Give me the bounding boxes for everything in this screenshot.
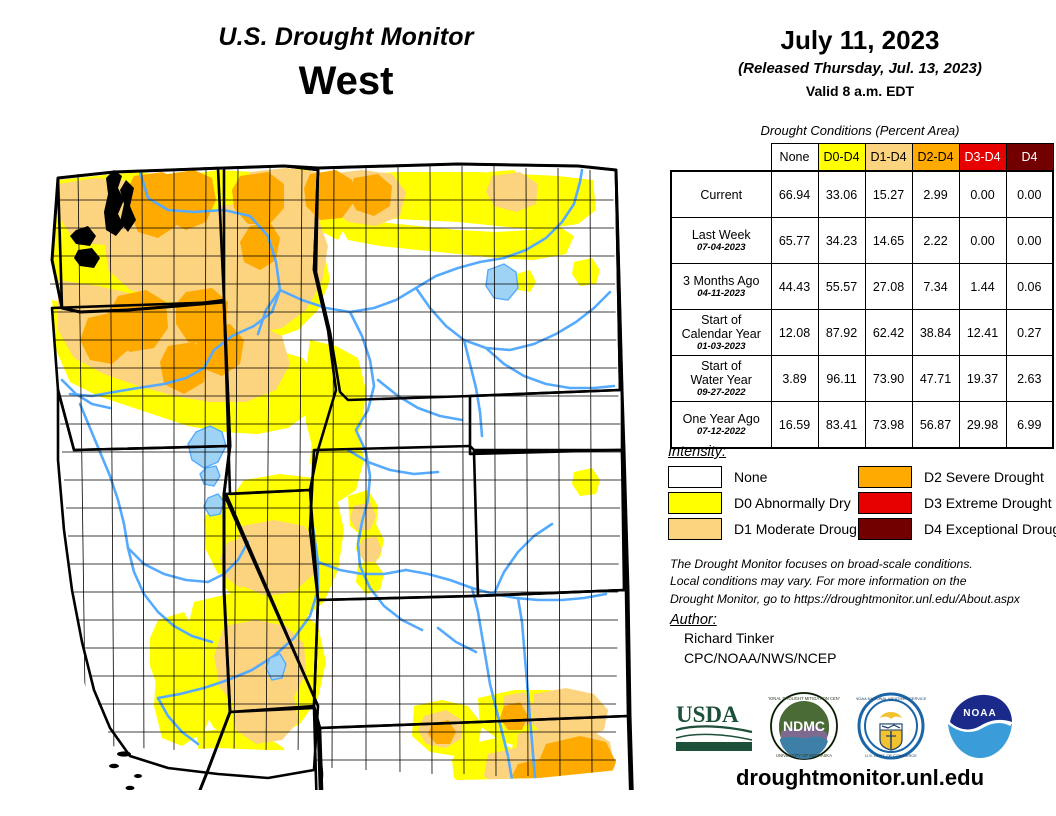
- row-label-date: 04-11-2023: [672, 289, 771, 300]
- table-corner-cell: [671, 144, 771, 172]
- cell-d0d4: 87.92: [818, 310, 865, 356]
- title-main: U.S. Drought Monitor: [96, 24, 596, 52]
- cell-none: 12.08: [771, 310, 818, 356]
- cell-d4: 0.06: [1006, 264, 1053, 310]
- note-line-1: The Drought Monitor focuses on broad-sca…: [670, 556, 1054, 573]
- svg-text:NDMC: NDMC: [783, 718, 825, 734]
- row-label-current: Current: [671, 171, 771, 218]
- cell-d2d4: 7.34: [912, 264, 959, 310]
- cell-d0d4: 96.11: [818, 356, 865, 402]
- svg-text:NOAA: NOAA: [963, 708, 996, 719]
- intensity-legend: Intensity: None D0 Abnormally Dry D1 Mod…: [668, 444, 1056, 544]
- row-label-one-year-ago: One Year Ago 07-12-2022: [671, 402, 771, 449]
- cell-d1d4: 62.42: [865, 310, 912, 356]
- cell-d2d4: 47.71: [912, 356, 959, 402]
- report-header: July 11, 2023 (Released Thursday, Jul. 1…: [664, 26, 1056, 100]
- cell-d1d4: 27.08: [865, 264, 912, 310]
- legend-item-d4: D4 Exceptional Drought: [858, 518, 1056, 540]
- table-caption: Drought Conditions (Percent Area): [664, 123, 1056, 138]
- cell-d4: 6.99: [1006, 402, 1053, 449]
- table-row: Start of Calendar Year 01-03-2023 12.08 …: [671, 310, 1053, 356]
- cell-none: 44.43: [771, 264, 818, 310]
- drought-map[interactable]: [18, 150, 658, 790]
- legend-label-d3: D3 Extreme Drought: [924, 495, 1052, 511]
- table-body: Current 66.94 33.06 15.27 2.99 0.00 0.00…: [671, 171, 1053, 448]
- cell-d1d4: 15.27: [865, 171, 912, 218]
- cell-d3d4: 19.37: [959, 356, 1006, 402]
- legend-item-d1: D1 Moderate Drought: [668, 518, 869, 540]
- drought-conditions-table: None D0-D4 D1-D4 D2-D4 D3-D4 D4 Current …: [670, 143, 1054, 449]
- cell-d2d4: 56.87: [912, 402, 959, 449]
- row-label-date: 07-12-2022: [672, 427, 771, 438]
- svg-text:NATIONAL DROUGHT MITIGATION CE: NATIONAL DROUGHT MITIGATION CENTER: [768, 696, 840, 701]
- author-title: Author:: [670, 612, 1054, 628]
- cell-none: 66.94: [771, 171, 818, 218]
- legend-item-d0: D0 Abnormally Dry: [668, 492, 851, 514]
- svg-text:U.S. DEPT. OF COMMERCE: U.S. DEPT. OF COMMERCE: [865, 753, 917, 758]
- cell-d0d4: 83.41: [818, 402, 865, 449]
- ndmc-logo: NDMC NATIONAL DROUGHT MITIGATION CENTER …: [768, 692, 840, 760]
- cell-d3d4: 0.00: [959, 171, 1006, 218]
- noaa-nws-seal: NOAA NATIONAL WEATHER SERVICE U.S. DEPT.…: [856, 692, 926, 760]
- row-label-text: Last Week: [692, 228, 751, 242]
- legend-swatch-none: [668, 466, 722, 488]
- column-header-none: None: [771, 144, 818, 172]
- legend-swatch-d4: [858, 518, 912, 540]
- legend-title: Intensity:: [668, 444, 1056, 460]
- author-name: Richard Tinker: [684, 628, 1054, 648]
- legend-item-d3: D3 Extreme Drought: [858, 492, 1052, 514]
- svg-text:USDA: USDA: [676, 702, 739, 727]
- cell-d3d4: 0.00: [959, 218, 1006, 264]
- cell-d0d4: 55.57: [818, 264, 865, 310]
- cell-d1d4: 73.90: [865, 356, 912, 402]
- legend-label-d0: D0 Abnormally Dry: [734, 495, 851, 511]
- row-label-last-week: Last Week 07-04-2023: [671, 218, 771, 264]
- cell-d4: 2.63: [1006, 356, 1053, 402]
- cell-none: 16.59: [771, 402, 818, 449]
- column-header-d1d4: D1-D4: [865, 144, 912, 172]
- row-label-date: 07-04-2023: [672, 243, 771, 254]
- table-row: Current 66.94 33.06 15.27 2.99 0.00 0.00: [671, 171, 1053, 218]
- table-row: One Year Ago 07-12-2022 16.59 83.41 73.9…: [671, 402, 1053, 449]
- legend-swatch-d2: [858, 466, 912, 488]
- legend-item-d2: D2 Severe Drought: [858, 466, 1044, 488]
- website-url[interactable]: droughtmonitor.unl.edu: [664, 765, 1056, 791]
- logo-row: USDA NDMC NATIONAL DROUGHT MITIGATION CE…: [664, 690, 1056, 760]
- cell-d0d4: 33.06: [818, 171, 865, 218]
- note-line-2: Local conditions may vary. For more info…: [670, 573, 1054, 590]
- cell-d2d4: 38.84: [912, 310, 959, 356]
- column-header-d0d4: D0-D4: [818, 144, 865, 172]
- row-label-3-months-ago: 3 Months Ago 04-11-2023: [671, 264, 771, 310]
- cell-d1d4: 14.65: [865, 218, 912, 264]
- legend-swatch-d3: [858, 492, 912, 514]
- row-label-text: Start of Water Year: [691, 359, 752, 387]
- cell-d4: 0.00: [1006, 171, 1053, 218]
- legend-swatch-d0: [668, 492, 722, 514]
- cell-d0d4: 34.23: [818, 218, 865, 264]
- noaa-logo: NOAA: [944, 692, 1016, 760]
- legend-item-none: None: [668, 466, 767, 488]
- column-header-d4: D4: [1006, 144, 1053, 172]
- note-line-3: Drought Monitor, go to https://droughtmo…: [670, 591, 1054, 608]
- row-label-text: Start of Calendar Year: [682, 313, 761, 341]
- row-label-date: 01-03-2023: [672, 342, 771, 353]
- row-label-text: Current: [700, 188, 742, 202]
- report-valid: Valid 8 a.m. EDT: [664, 82, 1056, 100]
- cell-d3d4: 29.98: [959, 402, 1006, 449]
- row-label-text: One Year Ago: [683, 412, 760, 426]
- usda-logo: USDA: [674, 698, 756, 752]
- legend-label-d4: D4 Exceptional Drought: [924, 521, 1056, 537]
- author-affiliation: CPC/NOAA/NWS/NCEP: [684, 648, 1054, 668]
- cell-d4: 0.00: [1006, 218, 1053, 264]
- cell-none: 3.89: [771, 356, 818, 402]
- cell-d3d4: 12.41: [959, 310, 1006, 356]
- cell-d2d4: 2.99: [912, 171, 959, 218]
- cell-d3d4: 1.44: [959, 264, 1006, 310]
- author-block: Author: Richard Tinker CPC/NOAA/NWS/NCEP: [670, 612, 1054, 669]
- table-row: Last Week 07-04-2023 65.77 34.23 14.65 2…: [671, 218, 1053, 264]
- row-label-text: 3 Months Ago: [683, 274, 759, 288]
- row-label-date: 09-27-2022: [672, 388, 771, 399]
- table-row: 3 Months Ago 04-11-2023 44.43 55.57 27.0…: [671, 264, 1053, 310]
- column-header-d3d4: D3-D4: [959, 144, 1006, 172]
- cell-none: 65.77: [771, 218, 818, 264]
- cell-d1d4: 73.98: [865, 402, 912, 449]
- legend-label-d2: D2 Severe Drought: [924, 469, 1044, 485]
- title-region: West: [96, 58, 596, 104]
- table-row: Start of Water Year 09-27-2022 3.89 96.1…: [671, 356, 1053, 402]
- legend-swatch-d1: [668, 518, 722, 540]
- page-title: U.S. Drought Monitor West: [96, 24, 596, 104]
- report-date: July 11, 2023: [664, 26, 1056, 55]
- report-released: (Released Thursday, Jul. 13, 2023): [664, 59, 1056, 79]
- column-header-d2d4: D2-D4: [912, 144, 959, 172]
- legend-label-d1: D1 Moderate Drought: [734, 521, 869, 537]
- svg-text:NOAA NATIONAL WEATHER SERVICE: NOAA NATIONAL WEATHER SERVICE: [856, 696, 926, 701]
- svg-text:UNIVERSITY OF NEBRASKA: UNIVERSITY OF NEBRASKA: [776, 753, 832, 758]
- drought-monitor-page: U.S. Drought Monitor West: [0, 0, 1056, 816]
- row-label-start-of-water-year: Start of Water Year 09-27-2022: [671, 356, 771, 402]
- cell-d2d4: 2.22: [912, 218, 959, 264]
- legend-label-none: None: [734, 469, 767, 485]
- row-label-start-of-calendar-year: Start of Calendar Year 01-03-2023: [671, 310, 771, 356]
- table-header-row: None D0-D4 D1-D4 D2-D4 D3-D4 D4: [671, 144, 1053, 172]
- disclaimer-note: The Drought Monitor focuses on broad-sca…: [670, 556, 1054, 608]
- cell-d4: 0.27: [1006, 310, 1053, 356]
